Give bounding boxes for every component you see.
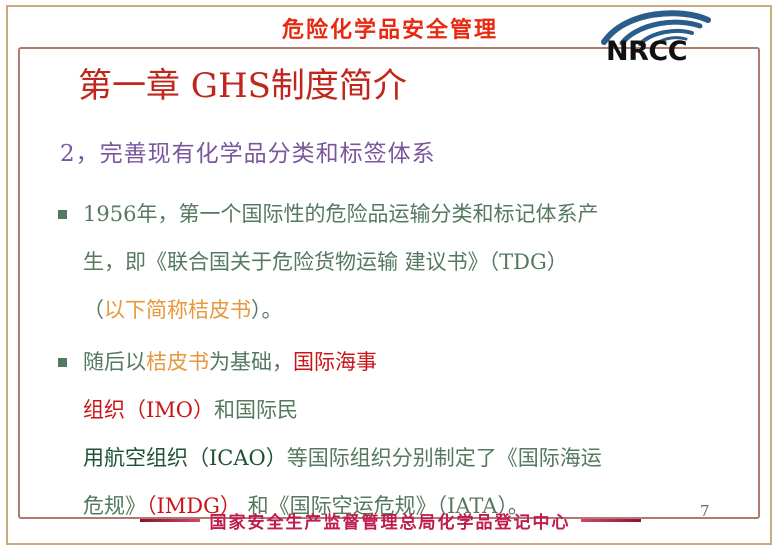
text-run: 和国际民 (214, 398, 298, 422)
bullet-line: （以下简称桔皮书）。 (58, 286, 598, 334)
text-run: 随后以 (83, 350, 146, 374)
text-run: 1956年，第一个国际性的危险品运输分类和标记体系产 (83, 202, 598, 226)
text-run: 为基础， (209, 350, 293, 374)
text-run: ）。 (251, 298, 283, 322)
text-run: 等国际组织分别制定了《国际海运 (287, 446, 602, 470)
bullet-square-icon (58, 358, 67, 367)
nrcc-logo-text: NRCC (606, 36, 687, 67)
bullet-square-icon (58, 210, 67, 219)
text-run: 桔皮书 (146, 350, 209, 374)
section-subtitle: 2，完善现有化学品分类和标签体系 (60, 134, 436, 168)
text-run: 生，即《联合国关于危险货物运输 建议书》（TDG） (83, 250, 568, 274)
slide-canvas: 危险化学品安全管理 NRCC 第一章 GHS制度简介 2，完善现有化学品分类和标… (0, 0, 780, 552)
bullet-paragraph-2: 随后以桔皮书为基础，国际海事组织（IMO）和国际民用航空组织（ICAO）等国际组… (58, 338, 602, 530)
nrcc-logo: NRCC (596, 6, 716, 64)
bullet-line: 1956年，第一个国际性的危险品运输分类和标记体系产 (58, 190, 598, 238)
page-title: 第一章 GHS制度简介 (78, 58, 407, 107)
footer-rule-left (140, 519, 200, 522)
bullet-line: 用航空组织（ICAO）等国际组织分别制定了《国际海运 (58, 434, 602, 482)
page-number: 7 (700, 502, 710, 520)
footer-organization-text: 国家安全生产监督管理总局化学品登记中心 (210, 508, 571, 533)
bullet-line: 随后以桔皮书为基础，国际海事 (58, 338, 602, 386)
bullet-line: 生，即《联合国关于危险货物运输 建议书》（TDG） (58, 238, 598, 286)
slide-footer: 国家安全生产监督管理总局化学品登记中心 (0, 508, 780, 533)
text-run: （ (83, 298, 104, 322)
footer-rule-right (581, 519, 641, 522)
text-run: 以下简称桔皮书 (104, 298, 251, 322)
bullet-paragraph-1: 1956年，第一个国际性的危险品运输分类和标记体系产生，即《联合国关于危险货物运… (58, 190, 598, 334)
text-run: 国际海事 (293, 350, 377, 374)
text-run: 用航空组织（ICAO） (83, 446, 287, 470)
text-run: 组织（IMO） (83, 398, 214, 422)
bullet-line: 组织（IMO）和国际民 (58, 386, 602, 434)
